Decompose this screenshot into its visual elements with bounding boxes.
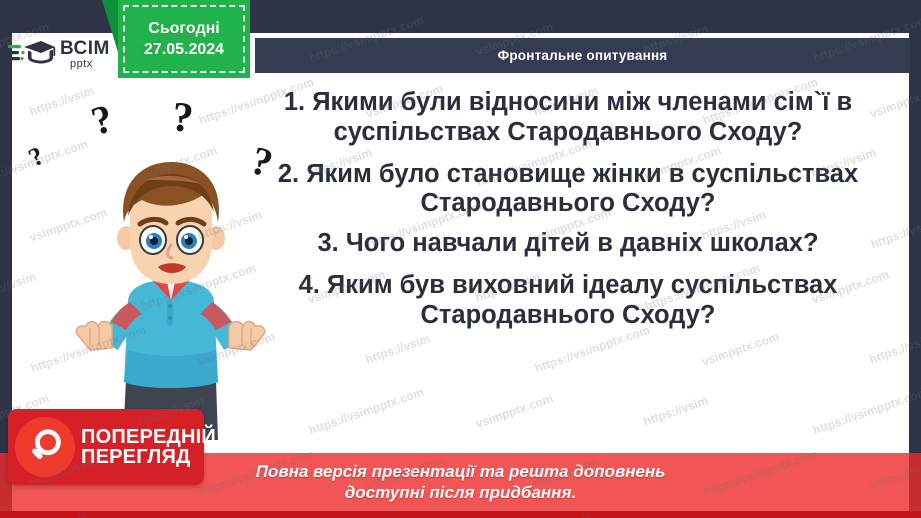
question-item-1: 1. Якими були відносини між членами сім`… (232, 88, 904, 148)
preview-badge[interactable]: ПОПЕРЕДНІЙ ПЕРЕГЛЯД (8, 409, 204, 485)
today-date: 27.05.2024 (144, 41, 224, 59)
shrugging-boy-illustration (68, 150, 273, 440)
graduation-cap-icon (8, 36, 56, 72)
today-date-ribbon: Сьогодні 27.05.2024 (118, 0, 250, 78)
preview-notice-line-2: доступні після придбання. (345, 483, 576, 503)
ribbon-dashed-border (123, 5, 245, 73)
presentation-slide: ВСІМ pptx Фронтальне опитування Сьогодні… (0, 0, 921, 518)
watermark-text: https://vsimpptx.com (417, 0, 536, 3)
question-item-4: 4. Яким був виховний ідеалу суспільствах… (232, 271, 904, 331)
today-label: Сьогодні (148, 20, 219, 38)
logo-subtext: pptx (70, 59, 110, 70)
preview-notice-line-1: Повна версія презентації та решта доповн… (256, 462, 666, 482)
slide-header-bar: Фронтальне опитування (255, 38, 910, 73)
magnifier-icon (15, 417, 75, 477)
watermark-text: https://vsimpptx.com (0, 0, 32, 3)
question-item-3: 3. Чого навчали дітей в давніх школах? (232, 229, 904, 259)
page-title: Фронтальне опитування (498, 48, 668, 63)
questions-list: 1. Якими були відносини між членами сім`… (232, 88, 904, 331)
preview-badge-line-2: ПЕРЕГЛЯД (81, 447, 216, 467)
preview-badge-line-1: ПОПЕРЕДНІЙ (81, 427, 216, 447)
question-item-2: 2. Яким було становище жінки в суспільст… (232, 160, 904, 220)
